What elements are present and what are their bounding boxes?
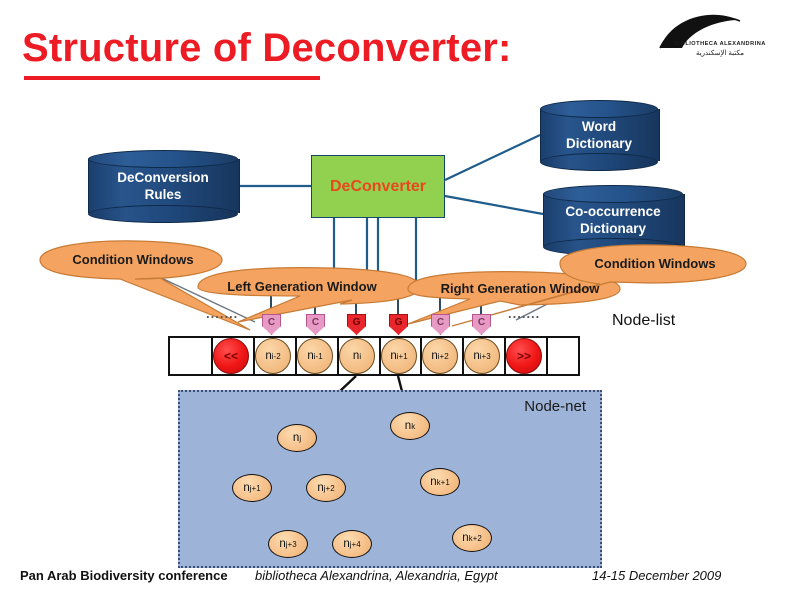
node-sub: i-2 [272,352,281,361]
node-list-strip: << ni-2 ni-1 ni ni+1 ni+2 ni+3 >> [168,336,580,376]
footer-venue: bibliotheca Alexandrina, Alexandria, Egy… [255,568,498,583]
tree-node-nj1: nj+1 [232,474,272,502]
node-list-start-marker: << [213,338,249,374]
badge-condition-3: C [431,314,450,335]
badge-letter: C [306,314,325,335]
badge-letter: C [431,314,450,335]
database-label: Word Dictionary [540,100,658,170]
database-word-dictionary: Word Dictionary [540,100,658,170]
footer-date: 14-15 December 2009 [592,568,721,583]
badge-generation-1: G [347,314,366,335]
node-list-label: Node-list [612,312,675,330]
badge-condition-1: C [262,314,281,335]
callout-condition-windows-right: Condition Windows [566,252,744,274]
cell-divider [578,336,580,376]
database-label-line2: Dictionary [580,220,646,237]
database-label-line1: Co-occurrence [565,203,660,220]
node-sub: k+2 [469,534,482,543]
footer-conference: Pan Arab Biodiversity conference [20,568,228,583]
database-label: Co-occurrence Dictionary [543,185,683,255]
cell-divider [168,336,170,376]
node-list-end-marker: >> [506,338,542,374]
node-list-item-3: ni+1 [381,338,417,374]
node-sub: i [359,352,361,361]
badge-condition-2: C [306,314,325,335]
database-label-line2: Rules [145,186,182,203]
node-sub: j [299,434,301,443]
database-label-line2: Dictionary [566,135,632,152]
node-sub: i+1 [397,352,408,361]
node-list-item-2: ni [339,338,375,374]
badge-generation-2: G [389,314,408,335]
node-sub: i+2 [438,352,449,361]
node-net-label: Node-net [524,398,586,415]
tree-node-nj: nj [277,424,317,452]
badge-letter: C [472,314,491,335]
node-sub: i-1 [314,352,323,361]
tree-node-nk1: nk+1 [420,468,460,496]
badge-condition-4: C [472,314,491,335]
slide-canvas: Structure of Deconverter: BIBLIOTHECA AL… [0,0,800,600]
node-sub: k [411,422,415,431]
callout-condition-windows-left: Condition Windows [44,248,222,270]
slide-footer: Pan Arab Biodiversity conference bibliot… [0,568,800,592]
node-sub: j+1 [250,484,261,493]
node-list-left-ellipsis: ....... [206,306,238,321]
node-list-item-0: ni-2 [255,338,291,374]
node-sub: k+1 [437,478,450,487]
database-label-line1: Word [582,118,616,135]
node-sub: j+3 [286,540,297,549]
badge-letter: G [347,314,366,335]
node-sub: i+3 [480,352,491,361]
database-deconversion-rules: DeConversion Rules [88,150,238,222]
badge-letter: C [262,314,281,335]
tree-node-nk: nk [390,412,430,440]
node-list-right-ellipsis: ....... [508,306,540,321]
badge-letter: G [389,314,408,335]
callout-left-generation-window: Left Generation Window [204,276,400,296]
database-cooccurrence-dictionary: Co-occurrence Dictionary [543,185,683,255]
node-list-item-4: ni+2 [422,338,458,374]
tree-node-nj4: nj+4 [332,530,372,558]
tree-node-nj2: nj+2 [306,474,346,502]
callout-right-generation-window: Right Generation Window [420,278,620,298]
node-sub: j+4 [350,540,361,549]
tree-node-nk2: nk+2 [452,524,492,552]
cell-divider [546,336,548,376]
tree-node-nj3: nj+3 [268,530,308,558]
node-list-item-5: ni+3 [464,338,500,374]
database-label: DeConversion Rules [88,150,238,222]
node-list-item-1: ni-1 [297,338,333,374]
database-label-line1: DeConversion [117,169,209,186]
node-sub: j+2 [324,484,335,493]
